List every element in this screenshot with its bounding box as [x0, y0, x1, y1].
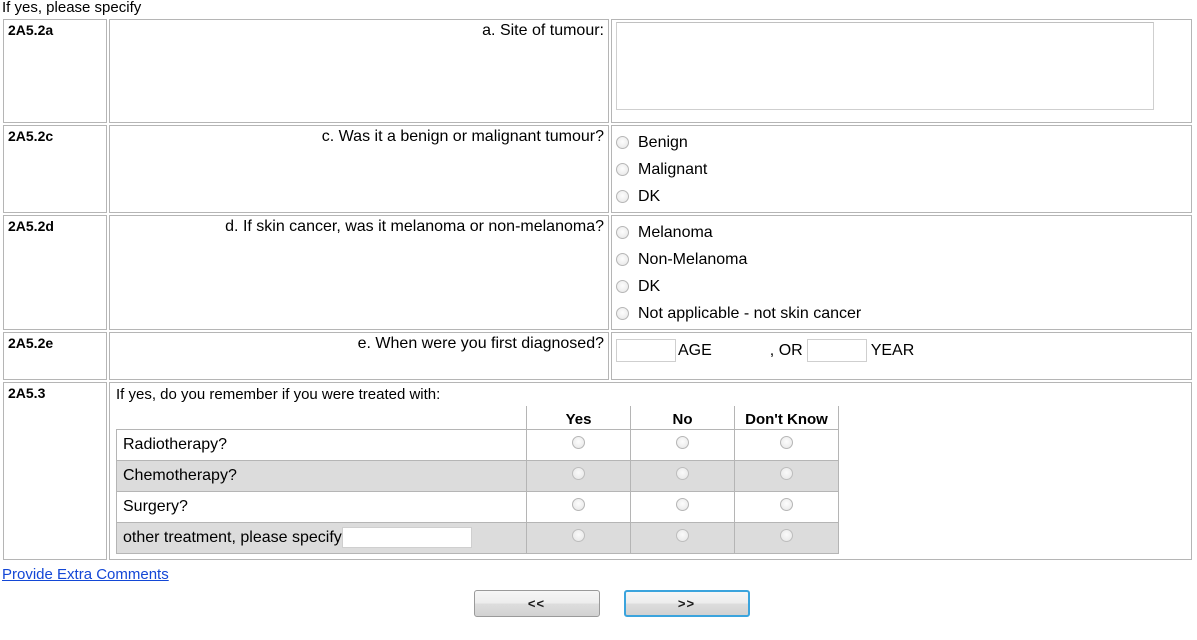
table-row: other treatment, please specify	[117, 522, 839, 553]
radio-option-melanoma[interactable]: Melanoma	[616, 219, 1187, 246]
radio-option-malignant[interactable]: Malignant	[616, 156, 1187, 183]
radio-option-dk[interactable]: DK	[616, 183, 1187, 210]
radio-option-label: Benign	[629, 134, 688, 152]
radio-icon[interactable]	[676, 498, 689, 511]
page-intro-text: If yes, please specify	[0, 0, 1197, 17]
question-answer-treatment: If yes, do you remember if you were trea…	[109, 382, 1192, 560]
survey-page: If yes, please specify 2A5.2a a. Site of…	[0, 0, 1197, 617]
question-id-2a52d: 2A5.2d	[3, 215, 107, 330]
treatment-cell-no[interactable]	[631, 460, 735, 491]
treatment-header-yes: Yes	[527, 406, 631, 429]
year-unit-label: YEAR	[867, 342, 915, 360]
table-row: Chemotherapy?	[117, 460, 839, 491]
radio-option-dk[interactable]: DK	[616, 273, 1187, 300]
treatment-label-radiotherapy: Radiotherapy?	[117, 429, 527, 460]
year-input[interactable]	[807, 339, 867, 362]
radio-icon[interactable]	[676, 436, 689, 449]
question-label-melanoma: d. If skin cancer, was it melanoma or no…	[109, 215, 609, 330]
next-button[interactable]: >>	[624, 590, 750, 617]
radio-icon[interactable]	[616, 163, 629, 176]
site-of-tumour-textarea[interactable]	[616, 22, 1154, 110]
question-label-site: a. Site of tumour:	[109, 19, 609, 123]
question-answer-melanoma: Melanoma Non-Melanoma DK Not applic	[611, 215, 1192, 330]
radio-icon[interactable]	[572, 467, 585, 480]
previous-button[interactable]: <<	[474, 590, 600, 617]
treatment-cell-dont-know[interactable]	[735, 429, 839, 460]
radio-icon[interactable]	[780, 467, 793, 480]
question-id-2a52e: 2A5.2e	[3, 332, 107, 380]
treatment-intro-text: If yes, do you remember if you were trea…	[114, 385, 1187, 406]
radio-option-label: Non-Melanoma	[629, 251, 747, 269]
navigation-button-row: << >>	[0, 590, 1197, 617]
question-answer-when-diagnosed: AGE , OR YEAR	[611, 332, 1192, 380]
radio-option-not-applicable[interactable]: Not applicable - not skin cancer	[616, 300, 1187, 327]
question-row-benign-malignant: 2A5.2c c. Was it a benign or malignant t…	[3, 125, 1192, 213]
radio-icon[interactable]	[780, 529, 793, 542]
treatment-cell-dont-know[interactable]	[735, 491, 839, 522]
question-answer-site	[611, 19, 1192, 123]
radio-option-non-melanoma[interactable]: Non-Melanoma	[616, 246, 1187, 273]
radio-icon[interactable]	[780, 436, 793, 449]
or-separator-label: , OR	[712, 342, 807, 360]
radio-icon[interactable]	[780, 498, 793, 511]
table-row: Radiotherapy?	[117, 429, 839, 460]
treatment-cell-no[interactable]	[631, 429, 735, 460]
treatment-header-row: Yes No Don't Know	[117, 406, 839, 429]
table-row: Surgery?	[117, 491, 839, 522]
age-unit-label: AGE	[676, 342, 712, 360]
radio-option-benign[interactable]: Benign	[616, 129, 1187, 156]
radio-icon[interactable]	[616, 190, 629, 203]
treatment-header-dont-know: Don't Know	[735, 406, 839, 429]
radio-option-label: Malignant	[629, 161, 707, 179]
question-row-melanoma: 2A5.2d d. If skin cancer, was it melanom…	[3, 215, 1192, 330]
age-input[interactable]	[616, 339, 676, 362]
question-table: 2A5.2a a. Site of tumour: 2A5.2c c. Was …	[1, 17, 1194, 562]
radio-icon[interactable]	[572, 436, 585, 449]
radio-group-melanoma: Melanoma Non-Melanoma DK Not applic	[616, 218, 1187, 327]
radio-icon[interactable]	[616, 136, 629, 149]
provide-extra-comments-link[interactable]: Provide Extra Comments	[2, 566, 169, 583]
radio-icon[interactable]	[616, 280, 629, 293]
treatment-cell-yes[interactable]	[527, 429, 631, 460]
treatment-other-label: other treatment, please specify	[123, 529, 342, 547]
radio-icon[interactable]	[616, 253, 629, 266]
question-row-when-diagnosed: 2A5.2e e. When were you first diagnosed?…	[3, 332, 1192, 380]
radio-icon[interactable]	[572, 498, 585, 511]
radio-option-label: Melanoma	[629, 224, 713, 242]
treatment-cell-dont-know[interactable]	[735, 522, 839, 553]
treatment-cell-dont-know[interactable]	[735, 460, 839, 491]
treatment-label-other: other treatment, please specify	[117, 522, 527, 553]
question-label-when-diagnosed: e. When were you first diagnosed?	[109, 332, 609, 380]
radio-icon[interactable]	[676, 529, 689, 542]
radio-icon[interactable]	[616, 307, 629, 320]
age-or-year-row: AGE , OR YEAR	[616, 335, 1187, 365]
question-row-site: 2A5.2a a. Site of tumour:	[3, 19, 1192, 123]
radio-option-label: Not applicable - not skin cancer	[629, 305, 861, 323]
treatment-label-surgery: Surgery?	[117, 491, 527, 522]
question-label-benign-malignant: c. Was it a benign or malignant tumour?	[109, 125, 609, 213]
radio-group-benign-malignant: Benign Malignant DK	[616, 128, 1187, 210]
question-id-2a52c: 2A5.2c	[3, 125, 107, 213]
radio-option-label: DK	[629, 278, 660, 296]
question-id-2a53: 2A5.3	[3, 382, 107, 560]
treatment-cell-yes[interactable]	[527, 522, 631, 553]
question-row-treatment: 2A5.3 If yes, do you remember if you wer…	[3, 382, 1192, 560]
treatment-header-blank	[117, 406, 527, 429]
treatment-cell-yes[interactable]	[527, 460, 631, 491]
radio-icon[interactable]	[572, 529, 585, 542]
treatment-cell-no[interactable]	[631, 491, 735, 522]
treatment-cell-no[interactable]	[631, 522, 735, 553]
treatment-grid-table: Yes No Don't Know Radiotherapy?	[116, 406, 839, 554]
radio-icon[interactable]	[616, 226, 629, 239]
treatment-header-no: No	[631, 406, 735, 429]
treatment-cell-yes[interactable]	[527, 491, 631, 522]
treatment-label-chemotherapy: Chemotherapy?	[117, 460, 527, 491]
radio-option-label: DK	[629, 188, 660, 206]
question-id-2a52a: 2A5.2a	[3, 19, 107, 123]
radio-icon[interactable]	[676, 467, 689, 480]
question-answer-benign-malignant: Benign Malignant DK	[611, 125, 1192, 213]
other-treatment-input[interactable]	[342, 527, 472, 548]
